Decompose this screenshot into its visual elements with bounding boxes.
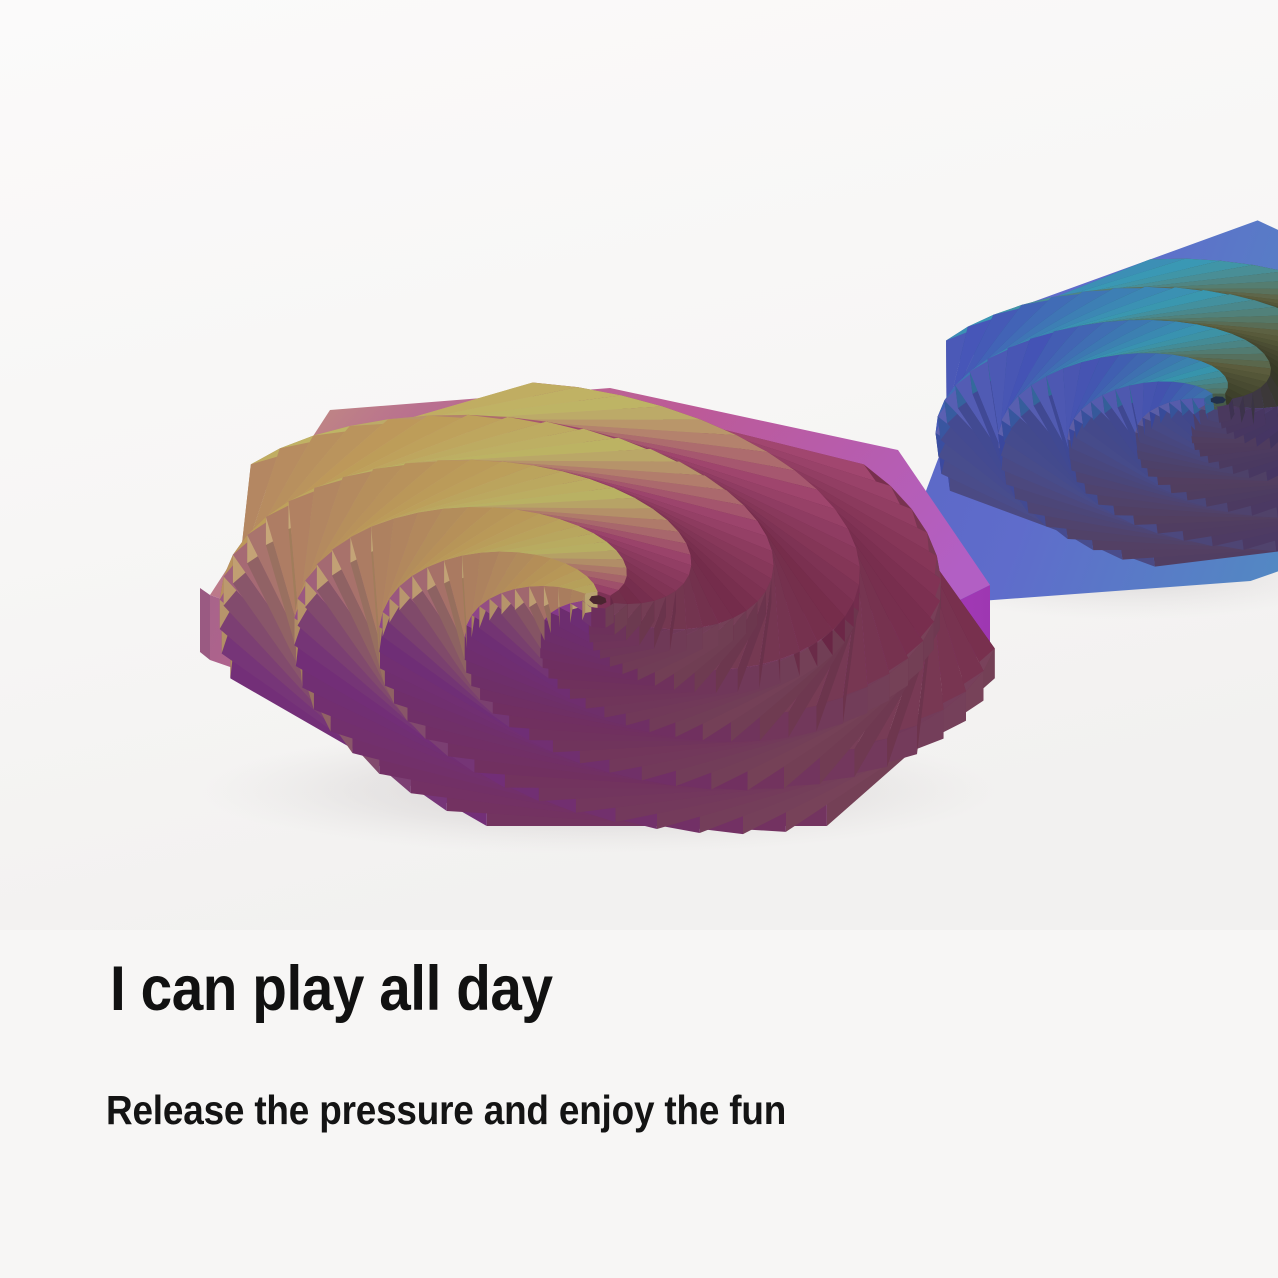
product-photo-svg [0, 0, 1278, 930]
headline-text: I can play all day [110, 958, 553, 1021]
subheadline-text: Release the pressure and enjoy the fun [106, 1090, 786, 1131]
banner-root: I can play all day Release the pressure … [0, 0, 1278, 1278]
product-photo [0, 0, 1278, 930]
spiral-fin-face [591, 607, 605, 628]
caption-block: I can play all day Release the pressure … [0, 930, 1278, 1278]
spiral-fin-face [1217, 405, 1231, 423]
